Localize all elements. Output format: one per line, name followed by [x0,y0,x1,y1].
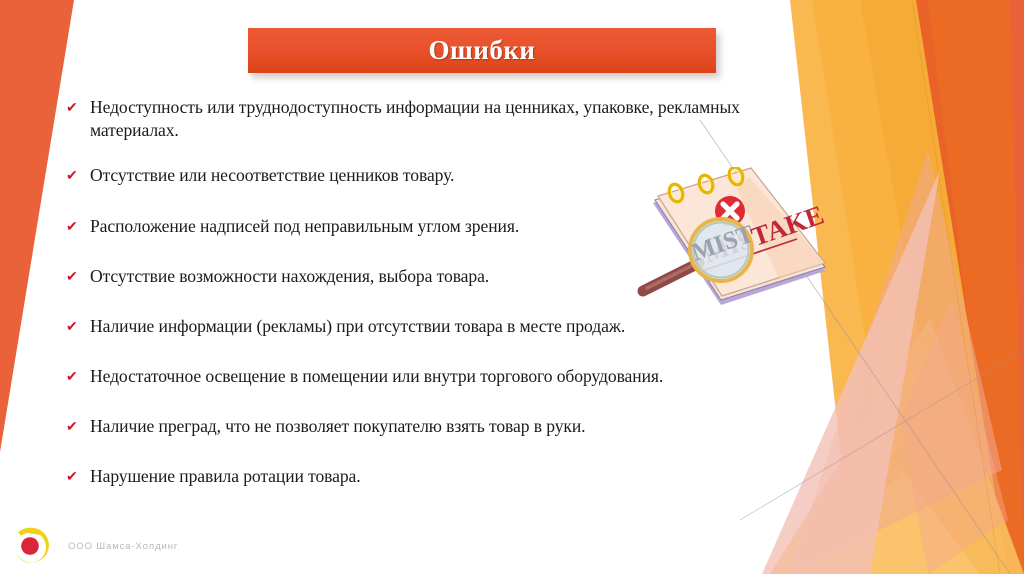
check-icon: ✔ [66,465,90,487]
list-item-label: Наличие информации (рекламы) при отсутст… [90,315,625,338]
right-deep-orange-band [836,0,1024,574]
right-amber-band [812,0,1008,574]
list-item-label: Нарушение правила ротации товара. [90,465,361,488]
list-item: ✔ Недостаточное освещение в помещении ил… [66,365,766,388]
check-icon: ✔ [66,265,90,287]
list-item-label: Отсутствие возможности нахождения, выбор… [90,265,489,288]
list-item-label: Недостаточное освещение в помещении или … [90,365,663,388]
shamsa-holding-logo-icon [8,524,52,568]
right-orange-sliver [905,0,1000,574]
page-title: Ошибки [429,35,536,66]
guide-line-diagonal-3 [912,0,1000,574]
list-item: ✔ Отсутствие возможности нахождения, выб… [66,265,766,288]
bullet-list: ✔ Недоступность или труднодоступность ин… [66,96,766,488]
check-icon: ✔ [66,215,90,237]
footer: ООО Шамса-Холдинг [8,524,178,568]
list-item-label: Наличие преград, что не позволяет покупа… [90,415,585,438]
list-item: ✔ Наличие информации (рекламы) при отсут… [66,315,766,338]
check-icon: ✔ [66,164,90,186]
bottom-light-orange-wedge [810,470,980,574]
check-icon: ✔ [66,315,90,337]
check-icon: ✔ [66,415,90,437]
list-item-label: Расположение надписей под неправильным у… [90,215,519,238]
right-red-orange-band [900,0,1024,574]
check-icon: ✔ [66,96,90,118]
footer-caption: ООО Шамса-Холдинг [68,541,178,552]
pale-salmon-sliver [900,300,1008,574]
logo-swirl-tail [18,528,32,536]
list-item: ✔ Отсутствие или несоответствие ценников… [66,164,766,187]
slide-title-banner: Ошибки [248,28,716,73]
list-item: ✔ Недоступность или труднодоступность ин… [66,96,766,142]
guide-line-diagonal-2 [740,350,1024,520]
logo-center-dot [21,537,39,555]
left-orange-wedge [0,0,74,452]
list-item-label: Недоступность или труднодоступность инфо… [90,96,766,142]
check-icon: ✔ [66,365,90,387]
list-item: ✔ Нарушение правила ротации товара. [66,465,766,488]
list-item: ✔ Наличие преград, что не позволяет поку… [66,415,766,438]
lower-light-orange-triangle [770,318,1024,574]
list-item: ✔ Расположение надписей под неправильным… [66,215,766,238]
slide-canvas: Ошибки MISTAKE [0,0,1024,574]
list-item-label: Отсутствие или несоответствие ценников т… [90,164,454,187]
